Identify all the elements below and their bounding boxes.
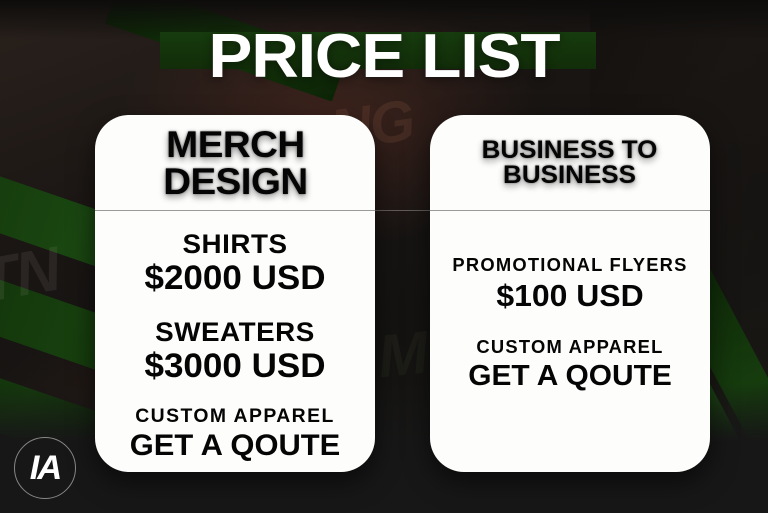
- price-card-business-to-business[interactable]: BUSINESS TO BUSINESS PROMOTIONAL FLYERS …: [430, 115, 710, 472]
- brand-logo-icon[interactable]: IA: [14, 437, 76, 499]
- spacer: [430, 315, 710, 335]
- logo-monogram: IA: [30, 451, 61, 485]
- item-label: SHIRTS: [95, 229, 375, 259]
- page-title: PRICE LIST: [0, 26, 768, 88]
- item-price: $2000 USD: [95, 259, 375, 297]
- spacer: [95, 297, 375, 317]
- card-header: BUSINESS TO BUSINESS: [430, 115, 710, 210]
- spacer: [95, 385, 375, 405]
- item-cta[interactable]: GET A QOUTE: [95, 429, 375, 463]
- card-heading: MERCH DESIGN: [163, 126, 307, 200]
- card-body: PROMOTIONAL FLYERS $100 USD CUSTOM APPAR…: [430, 211, 710, 393]
- background-ghost-text: M: [375, 318, 430, 392]
- item-label: CUSTOM APPAREL: [95, 405, 375, 429]
- item-label: SWEATERS: [95, 317, 375, 347]
- card-heading-line1: BUSINESS TO: [482, 138, 658, 163]
- price-row: SWEATERS $3000 USD: [95, 317, 375, 385]
- price-list-poster: TN NG M PN G PRICE LIST MERCH DESIGN SHI…: [0, 0, 768, 513]
- price-card-merch-design[interactable]: MERCH DESIGN SHIRTS $2000 USD SWEATERS $…: [95, 115, 375, 472]
- card-body: SHIRTS $2000 USD SWEATERS $3000 USD CUST…: [95, 211, 375, 463]
- item-label: CUSTOM APPAREL: [430, 335, 710, 359]
- item-cta[interactable]: GET A QOUTE: [430, 359, 710, 393]
- price-row: CUSTOM APPAREL GET A QOUTE: [95, 405, 375, 463]
- background-ghost-text: TN: [0, 234, 64, 318]
- price-row: PROMOTIONAL FLYERS $100 USD: [430, 253, 710, 315]
- item-price: $100 USD: [430, 277, 710, 315]
- price-row: CUSTOM APPAREL GET A QOUTE: [430, 335, 710, 393]
- card-heading: BUSINESS TO BUSINESS: [482, 138, 658, 188]
- item-price: $3000 USD: [95, 347, 375, 385]
- card-heading-line2: BUSINESS: [482, 163, 658, 188]
- card-heading-line1: MERCH: [163, 126, 307, 163]
- price-row: SHIRTS $2000 USD: [95, 229, 375, 297]
- item-label: PROMOTIONAL FLYERS: [430, 253, 710, 277]
- card-header: MERCH DESIGN: [95, 115, 375, 210]
- divider-gap: [375, 210, 430, 211]
- card-heading-line2: DESIGN: [163, 163, 307, 200]
